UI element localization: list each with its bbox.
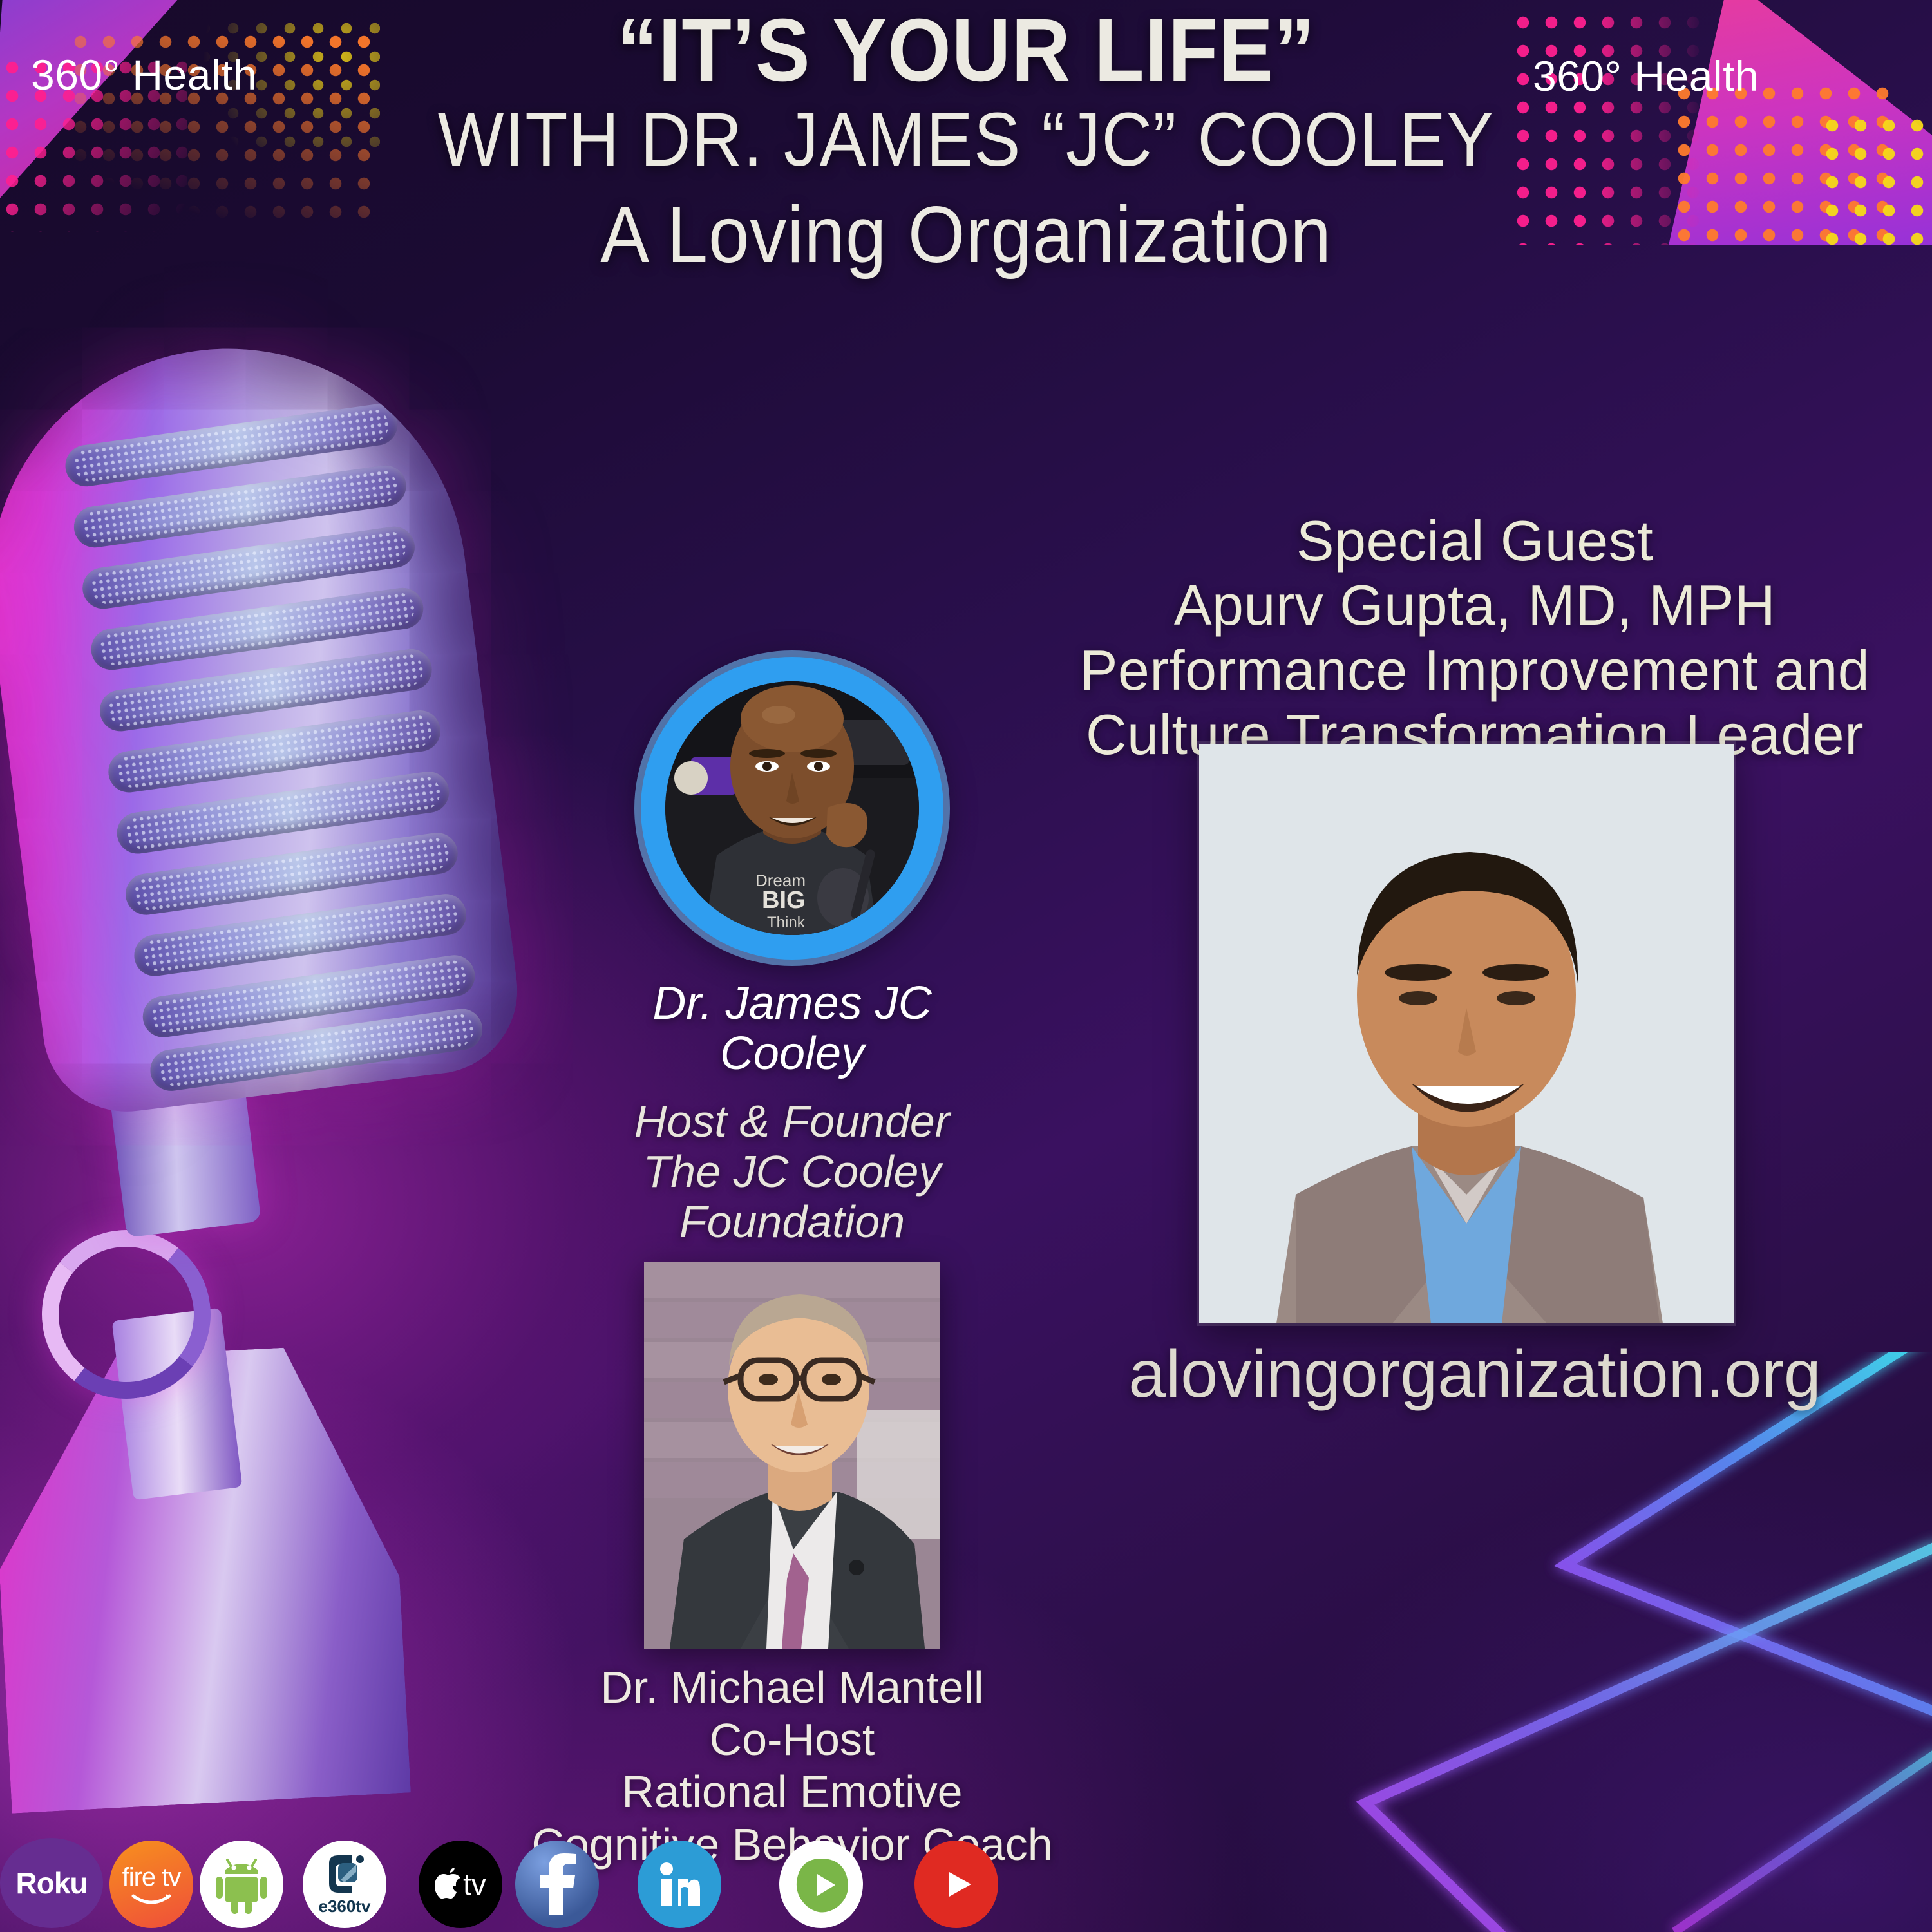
svg-text:BIG: BIG bbox=[762, 887, 806, 914]
mic-grille bbox=[62, 402, 485, 1093]
apple-tv-label: tv bbox=[463, 1867, 486, 1902]
youtube-play-glyph bbox=[934, 1862, 979, 1907]
amazon-smile-icon bbox=[131, 1892, 172, 1906]
host-portrait-illustration: Dream BIG Think bbox=[665, 681, 919, 935]
host-role-line-2: The JC Cooley bbox=[567, 1146, 1018, 1197]
linkedin-in-glyph bbox=[659, 1861, 700, 1908]
special-guest-label: Special Guest bbox=[1030, 509, 1919, 573]
platform-icon-strip: Roku fire tv bbox=[0, 1835, 1932, 1932]
brand-logo-text-left: 360° Health bbox=[31, 50, 257, 99]
guest-photo bbox=[1199, 744, 1734, 1323]
host-photo-inner: Dream BIG Think bbox=[665, 681, 919, 935]
host-role-line-1: Host & Founder bbox=[567, 1096, 1018, 1146]
facebook-icon[interactable] bbox=[515, 1841, 599, 1928]
host-photo-circle: Dream BIG Think bbox=[641, 657, 943, 960]
show-host-line: WITH DR. JAMES “JC” COOLEY bbox=[374, 99, 1558, 182]
fire-tv-label: fire tv bbox=[122, 1863, 181, 1892]
promo-poster: 360° Health 360° Health “IT’S YOUR LIFE”… bbox=[0, 0, 1932, 1932]
android-icon[interactable] bbox=[200, 1841, 283, 1928]
cohost-credential-line-1: Rational Emotive bbox=[502, 1766, 1082, 1818]
cohost-portrait-illustration bbox=[644, 1262, 940, 1649]
host-caption: Dr. James JC Cooley Host & Founder The J… bbox=[567, 979, 1018, 1247]
guest-title-line-1: Performance Improvement and bbox=[1030, 638, 1919, 703]
organization-name: A Loving Organization bbox=[374, 191, 1558, 279]
headline-block: “IT’S YOUR LIFE” WITH DR. JAMES “JC” COO… bbox=[322, 5, 1610, 279]
website-url[interactable]: alovingorganization.org bbox=[1030, 1336, 1919, 1413]
e360tv-icon[interactable]: e360tv bbox=[303, 1841, 386, 1928]
android-robot-glyph bbox=[212, 1853, 271, 1915]
apple-tv-icon[interactable]: tv bbox=[419, 1841, 502, 1928]
guest-portrait-illustration bbox=[1199, 744, 1734, 1323]
green-play-icon[interactable] bbox=[779, 1841, 863, 1928]
host-name-line-1: Dr. James JC bbox=[567, 979, 1018, 1029]
e360tv-label: e360tv bbox=[319, 1897, 371, 1917]
cohost-name: Dr. Michael Mantell bbox=[502, 1662, 1082, 1714]
facebook-f-glyph bbox=[537, 1853, 577, 1915]
green-play-glyph bbox=[791, 1855, 851, 1914]
e360tv-mark bbox=[321, 1853, 368, 1895]
fire-tv-icon[interactable]: fire tv bbox=[109, 1841, 193, 1928]
brand-logo-text-right: 360° Health bbox=[1533, 52, 1759, 100]
host-name-line-2: Cooley bbox=[567, 1029, 1018, 1079]
apple-logo-glyph bbox=[435, 1868, 463, 1901]
cohost-photo bbox=[644, 1262, 940, 1649]
halftone-dots-yellow bbox=[1823, 116, 1932, 245]
host-role-line-3: Foundation bbox=[567, 1197, 1018, 1247]
guest-name: Apurv Gupta, MD, MPH bbox=[1030, 573, 1919, 638]
linkedin-icon[interactable] bbox=[638, 1841, 721, 1928]
youtube-play-icon[interactable] bbox=[914, 1841, 998, 1928]
special-guest-block: Special Guest Apurv Gupta, MD, MPH Perfo… bbox=[1030, 509, 1919, 767]
cohost-role: Co-Host bbox=[502, 1714, 1082, 1766]
svg-text:Think: Think bbox=[767, 914, 806, 931]
roku-icon[interactable]: Roku bbox=[0, 1838, 103, 1928]
show-title: “IT’S YOUR LIFE” bbox=[374, 5, 1558, 96]
roku-label: Roku bbox=[16, 1866, 88, 1900]
retro-microphone-graphic bbox=[0, 309, 560, 1855]
